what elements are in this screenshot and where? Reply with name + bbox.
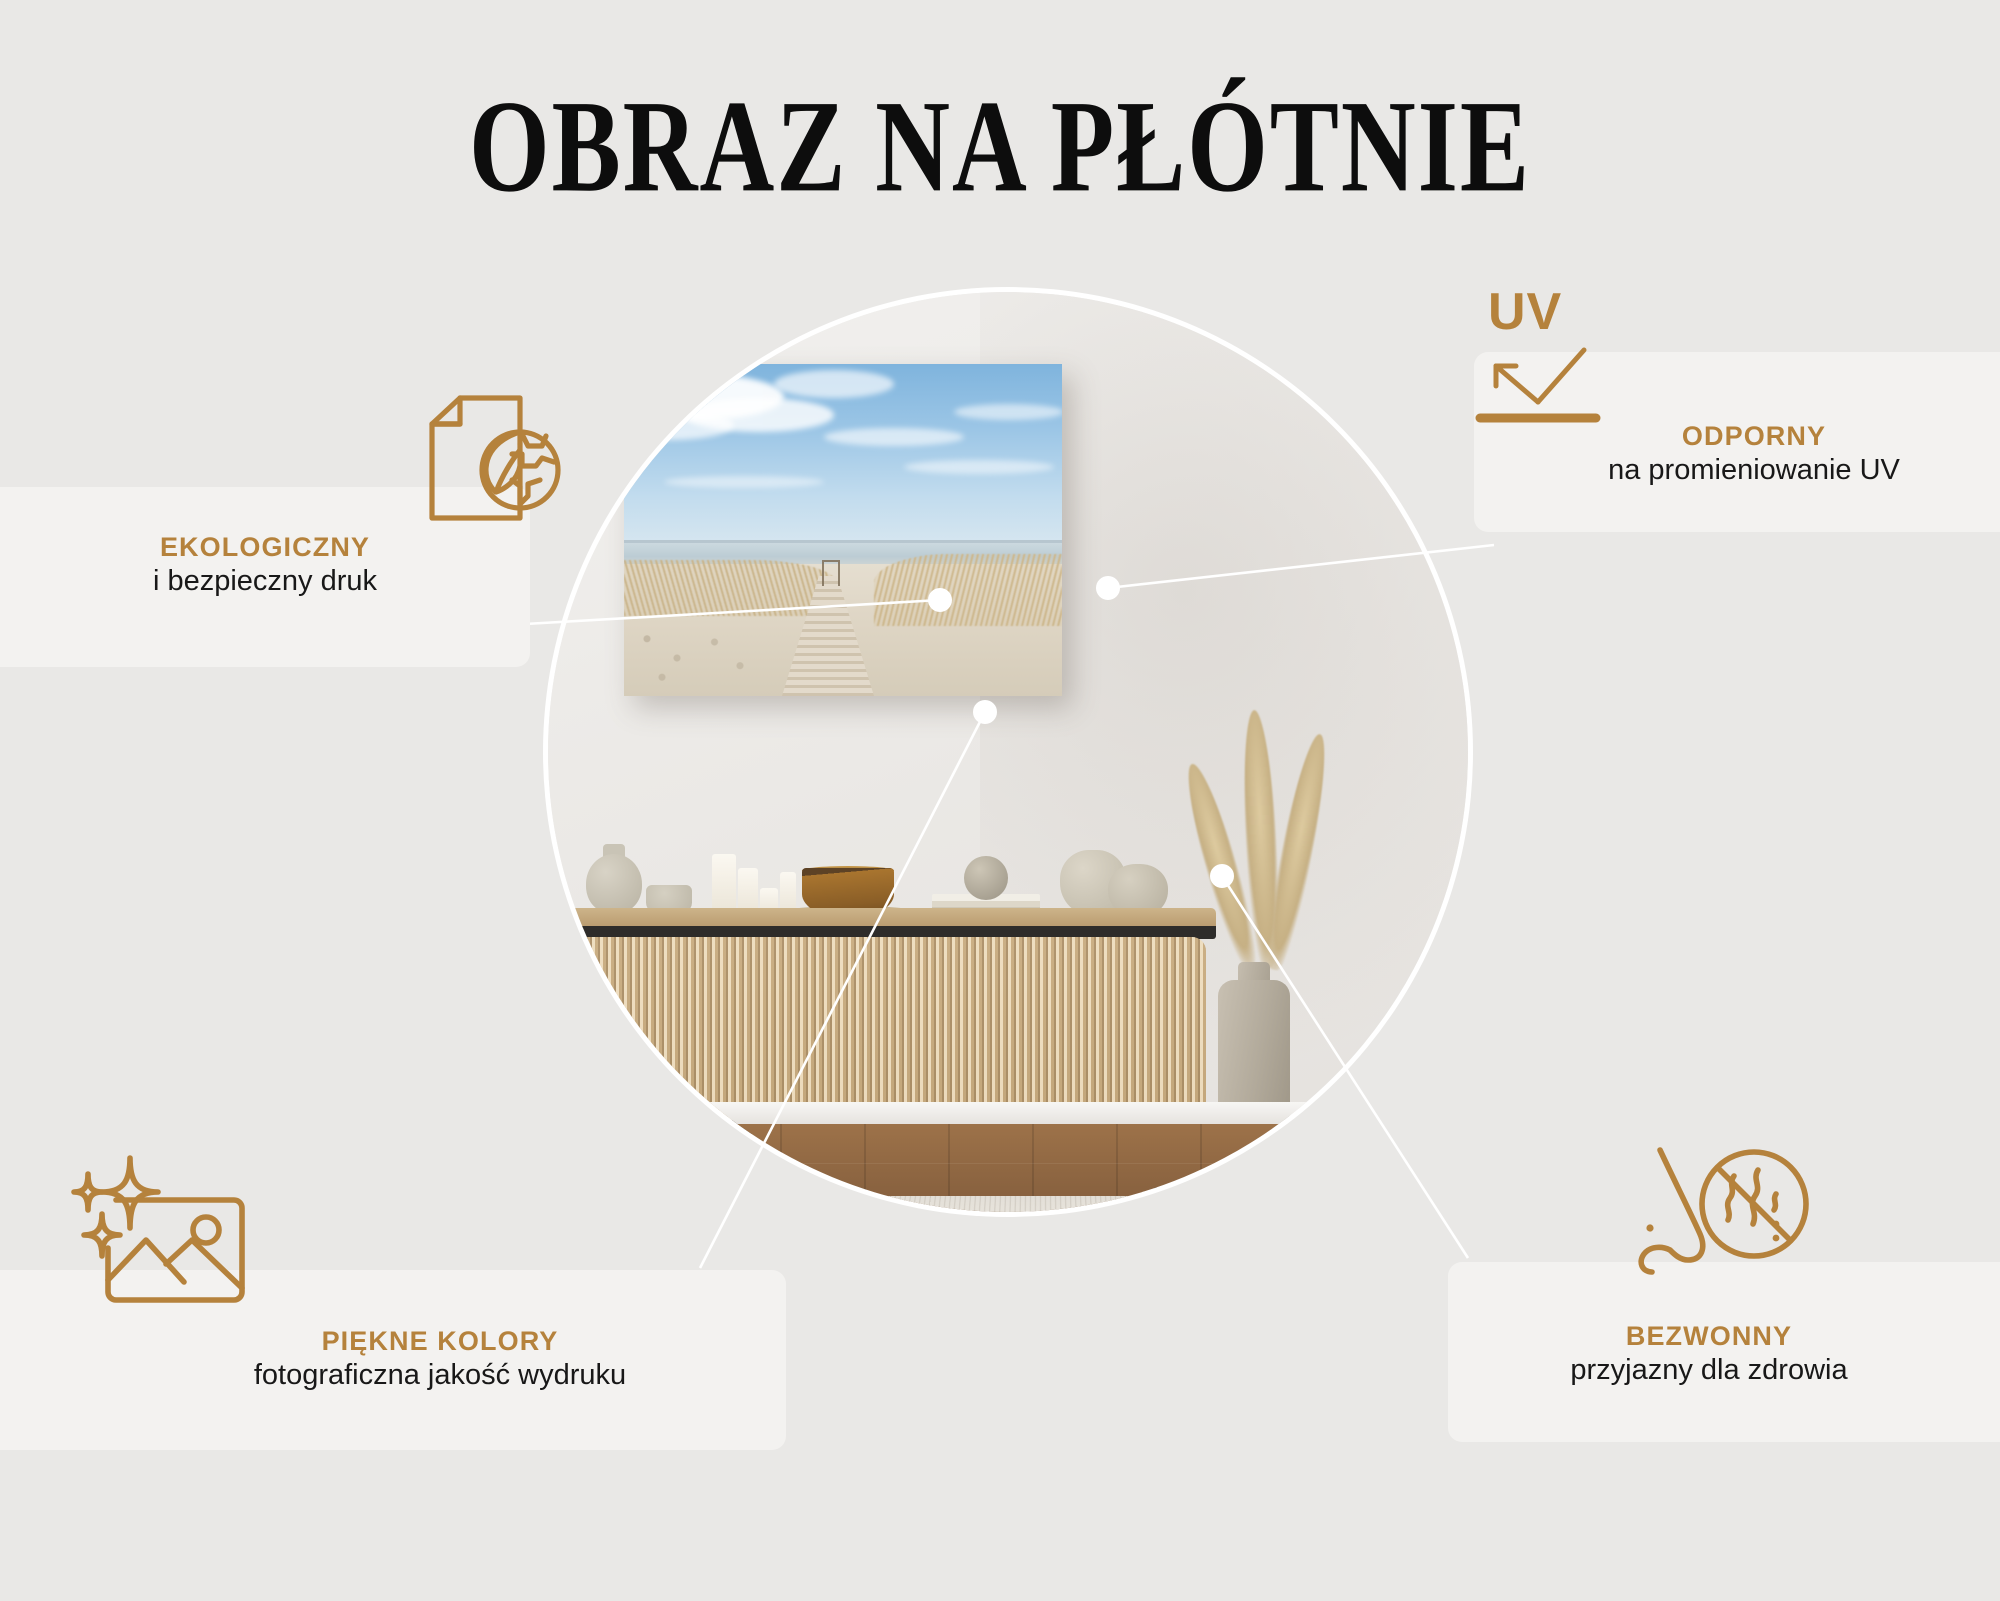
cloud — [664, 476, 824, 488]
sideboard-fluted-front — [548, 937, 1206, 1127]
feature-subtitle-uv: na promieniowanie UV — [1494, 452, 2000, 488]
photo-sparkle-icon — [68, 1152, 248, 1308]
feature-text-eko: EKOLOGICZNY i bezpieczny druk — [30, 531, 500, 600]
feature-text-uv: ODPORNY na promieniowanie UV — [1494, 420, 2000, 489]
decor-sphere — [964, 856, 1008, 900]
artwork-horizon — [624, 540, 1062, 543]
decor-round-vase — [586, 854, 642, 914]
feature-subtitle-bezwonny: przyjazny dla zdrowia — [1484, 1352, 1934, 1388]
nose-no-odor-icon — [1636, 1142, 1812, 1298]
feature-title-uv: ODPORNY — [1494, 420, 2000, 452]
feature-title-eko: EKOLOGICZNY — [30, 531, 500, 563]
area-rug-texture — [548, 1196, 1468, 1212]
cloud — [774, 370, 894, 398]
artwork-dune-grass-right — [874, 554, 1062, 626]
uv-text-label: UV — [1488, 286, 1562, 338]
feature-subtitle-eko: i bezpieczny druk — [30, 563, 500, 599]
cloud — [824, 428, 964, 446]
canvas-artwork — [624, 364, 1062, 696]
decor-candle — [712, 854, 736, 916]
cloud — [954, 404, 1062, 420]
infographic-root: OBRAZ NA PŁÓTNIE — [0, 0, 2000, 1601]
cloud — [904, 460, 1054, 474]
page-title: OBRAZ NA PŁÓTNIE — [40, 72, 1960, 223]
artwork-boardwalk-rail — [822, 560, 840, 586]
sideboard-top — [548, 908, 1216, 928]
feature-text-kolory: PIĘKNE KOLORY fotograficzna jakość wydru… — [150, 1325, 730, 1394]
room-scene-circle — [548, 292, 1468, 1212]
feature-title-bezwonny: BEZWONNY — [1484, 1320, 1934, 1352]
eco-document-globe-leaf-icon — [424, 392, 564, 524]
feature-text-bezwonny: BEZWONNY przyjazny dla zdrowia — [1484, 1320, 1934, 1389]
artwork-footprints — [632, 626, 782, 690]
feature-subtitle-kolory: fotograficzna jakość wydruku — [150, 1357, 730, 1393]
baseboard — [548, 1102, 1468, 1124]
feature-title-kolory: PIĘKNE KOLORY — [150, 1325, 730, 1357]
artwork-dune-grass-left — [624, 560, 836, 616]
interior-room-photo — [548, 292, 1468, 1212]
